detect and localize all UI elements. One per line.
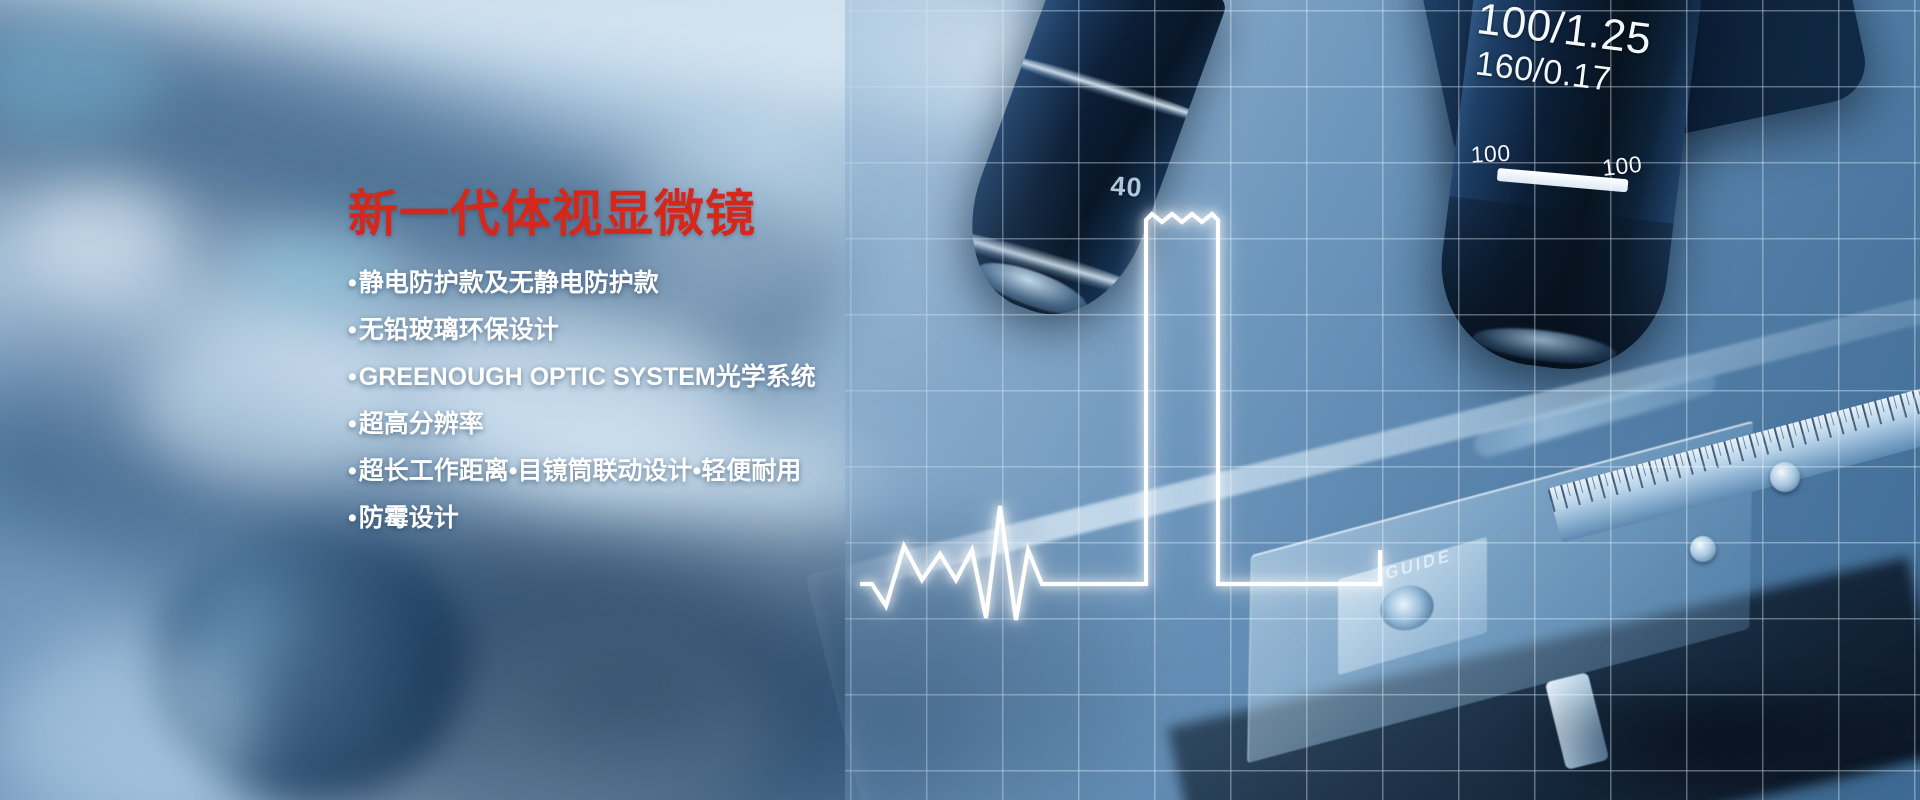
- list-item-label: 防霉设计: [359, 504, 459, 532]
- list-item-label: 无铅玻璃环保设计: [359, 316, 559, 344]
- feature-list: •静电防护款及无静电防护款 •无铅玻璃环保设计 •GREENOUGH OPTIC…: [348, 271, 1068, 531]
- list-item-label: 超高分辨率: [359, 410, 484, 438]
- bullet-marker-icon: •: [348, 506, 357, 531]
- bullet-marker-icon: •: [348, 365, 357, 390]
- bullet-marker-icon: •: [348, 318, 357, 343]
- list-item: •超高分辨率: [348, 412, 1068, 437]
- page-title: 新一代体视显微镜: [348, 188, 1068, 241]
- list-item: •GREENOUGH OPTIC SYSTEM光学系统: [348, 365, 1068, 390]
- bullet-marker-icon: •: [348, 271, 357, 296]
- list-item: •超长工作距离•目镜筒联动设计•轻便耐用: [348, 459, 1068, 484]
- copy-block: 新一代体视显微镜 •静电防护款及无静电防护款 •无铅玻璃环保设计 •GREENO…: [348, 188, 1068, 531]
- bullet-marker-icon: •: [348, 412, 357, 437]
- promo-banner: 40 100/1.25 160/0.17 100 100 GUIDE: [0, 0, 1920, 800]
- bokeh-light-1: [20, 180, 180, 290]
- list-item-label: GREENOUGH OPTIC SYSTEM光学系统: [359, 363, 816, 391]
- list-item: •防霉设计: [348, 506, 1068, 531]
- list-item: •无铅玻璃环保设计: [348, 318, 1068, 343]
- bullet-marker-icon: •: [348, 459, 357, 484]
- list-item-label: 超长工作距离•目镜筒联动设计•轻便耐用: [359, 457, 802, 485]
- list-item-label: 静电防护款及无静电防护款: [359, 269, 659, 297]
- list-item: •静电防护款及无静电防护款: [348, 271, 1068, 296]
